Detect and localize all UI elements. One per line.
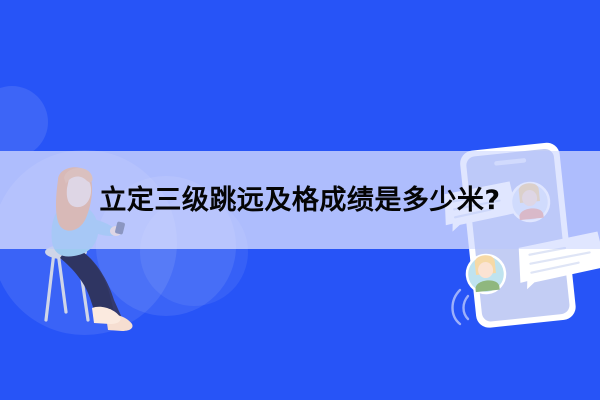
held-phone-icon bbox=[115, 221, 126, 235]
signal-arcs-bottom-icon bbox=[453, 290, 469, 324]
illustration-seated-woman bbox=[36, 160, 166, 335]
illustration-phone-chat bbox=[438, 118, 600, 338]
phone-body bbox=[459, 141, 577, 328]
article-cover-banner: 立定三级跳远及格成绩是多少米? bbox=[0, 0, 600, 400]
